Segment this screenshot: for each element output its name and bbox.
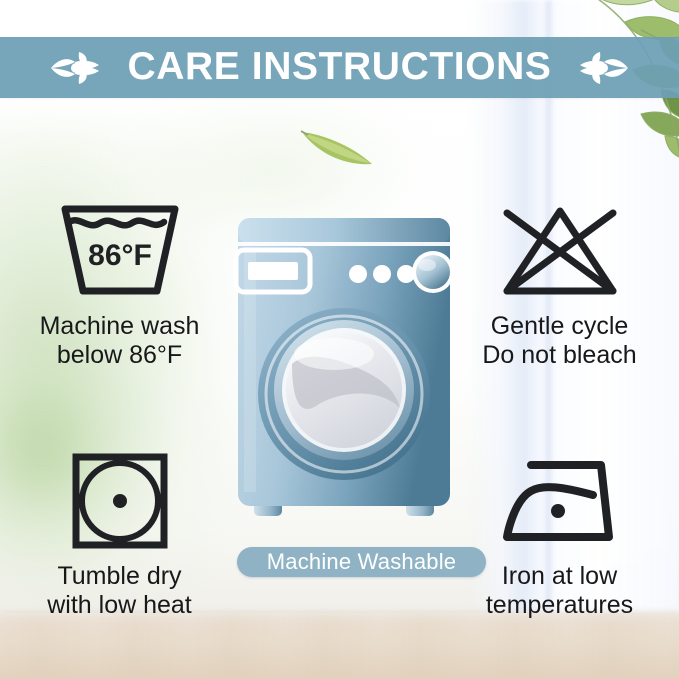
iron-one-dot-icon-wrapper xyxy=(497,446,623,556)
machine-program-knob[interactable] xyxy=(412,251,454,293)
tumble-dry-low-icon xyxy=(70,451,170,551)
care-symbol-machine-wash: 86°F Machine wash below 86°F xyxy=(12,196,227,370)
caption-line-2: Do not bleach xyxy=(482,341,636,370)
care-symbol-iron-low: Iron at low temperatures xyxy=(452,446,667,620)
machine-top-panel xyxy=(238,218,450,244)
care-symbol-caption: Machine wash below 86°F xyxy=(40,312,200,370)
machine-body-gloss xyxy=(244,252,256,492)
caption-line-1: Tumble dry xyxy=(47,562,192,591)
tumble-dry-low-icon-wrapper xyxy=(70,446,170,556)
caption-line-1: Gentle cycle xyxy=(482,312,636,341)
caption-line-2: below 86°F xyxy=(40,341,200,370)
fleur-de-lis-ornament-right-icon xyxy=(574,48,630,88)
machine-washable-badge-label: Machine Washable xyxy=(267,551,456,573)
machine-indicator-lights xyxy=(349,265,415,283)
machine-door-highlight xyxy=(294,338,374,370)
care-symbol-caption: Gentle cycle Do not bleach xyxy=(482,312,636,370)
caption-line-1: Machine wash xyxy=(40,312,200,341)
care-symbol-do-not-bleach: Gentle cycle Do not bleach xyxy=(452,196,667,370)
fleur-de-lis-ornament-left-icon xyxy=(49,48,105,88)
washing-machine-illustration xyxy=(230,212,458,532)
page-title: CARE INSTRUCTIONS xyxy=(127,47,551,88)
care-symbol-caption: Tumble dry with low heat xyxy=(47,562,192,620)
triangle-crossed-out-icon-wrapper xyxy=(499,196,621,306)
caption-line-1: Iron at low xyxy=(486,562,633,591)
floating-leaf-icon xyxy=(298,122,378,168)
wash-tub-icon: 86°F xyxy=(57,203,183,299)
caption-line-2: temperatures xyxy=(486,591,633,620)
care-instructions-infographic: CARE INSTRUCTIONS 86°F xyxy=(0,0,679,679)
machine-door[interactable] xyxy=(258,308,430,480)
care-symbol-tumble-dry: Tumble dry with low heat xyxy=(12,446,227,620)
background-wood-grain xyxy=(0,613,679,679)
wash-temperature-value: 86°F xyxy=(88,239,152,272)
machine-washable-badge: Machine Washable xyxy=(237,547,486,577)
iron-one-dot-icon xyxy=(497,455,623,547)
machine-top-divider xyxy=(238,242,450,246)
triangle-crossed-out-icon xyxy=(499,203,621,299)
header-banner: CARE INSTRUCTIONS xyxy=(0,37,679,98)
caption-line-2: with low heat xyxy=(47,591,192,620)
wash-tub-icon-wrapper: 86°F xyxy=(57,196,183,306)
care-symbol-caption: Iron at low temperatures xyxy=(486,562,633,620)
